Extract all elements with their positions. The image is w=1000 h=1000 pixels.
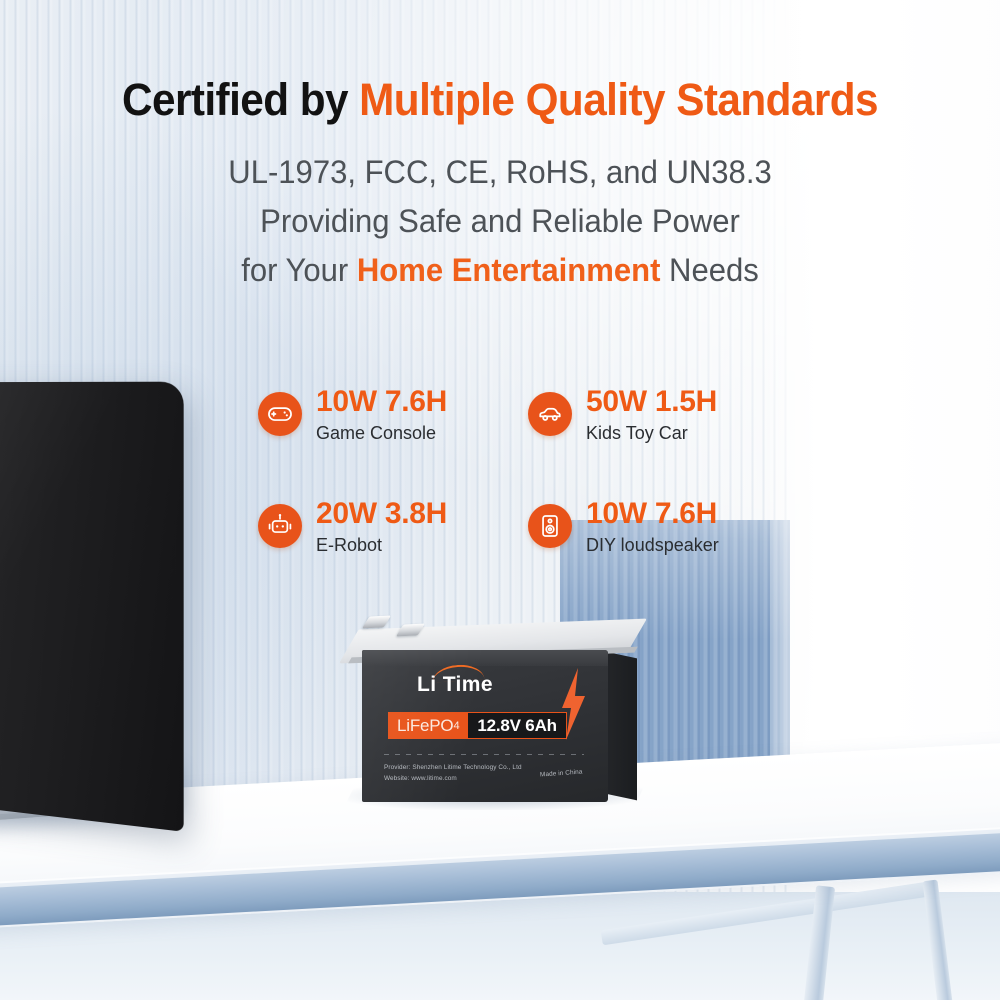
spec-badge: LiFePO4 12.8V 6Ah [388, 712, 567, 739]
chemistry-text: LiFePO [397, 716, 453, 736]
subtitle: UL-1973, FCC, CE, RoHS, and UN38.3 Provi… [15, 148, 985, 295]
feature-label: Game Console [316, 424, 447, 442]
chemistry-subscript: 4 [453, 720, 459, 732]
subtitle-line3-accent: Home Entertainment [357, 252, 661, 288]
feature-label: E-Robot [316, 536, 447, 554]
feature-spec: 10W 7.6H [316, 387, 447, 417]
feature-text: 10W 7.6H DIY loudspeaker [586, 499, 719, 554]
speaker-icon [528, 504, 572, 548]
wall-panel [770, 0, 1000, 870]
headline-accent: Multiple Quality Standards [359, 74, 878, 125]
subtitle-line-3: for Your Home Entertainment Needs [15, 246, 985, 295]
feature-spec: 10W 7.6H [586, 499, 719, 529]
subtitle-line-2: Providing Safe and Reliable Power [15, 197, 985, 246]
feature-label: DIY loudspeaker [586, 536, 719, 554]
feature-text: 20W 3.8H E-Robot [316, 499, 447, 554]
feature-text: 10W 7.6H Game Console [316, 387, 447, 442]
feature-item-robot: 20W 3.8H E-Robot [258, 470, 528, 582]
battery-terminal [362, 615, 391, 628]
manufacturer-info: Provider: Shenzhen Litime Technology Co.… [384, 762, 522, 784]
battery-side-face [607, 652, 637, 800]
toy-car-icon [528, 392, 572, 436]
feature-item-game-console: 10W 7.6H Game Console [258, 358, 528, 470]
feature-item-toy-car: 50W 1.5H Kids Toy Car [528, 358, 798, 470]
chemistry-badge: LiFePO4 [388, 712, 468, 739]
laptop-lid [0, 382, 184, 832]
subtitle-line3-after: Needs [660, 252, 758, 288]
label-divider [384, 754, 584, 755]
feature-list: 10W 7.6H Game Console 50W 1.5H Kids Toy … [258, 358, 798, 582]
brand-arc-icon [432, 663, 485, 683]
subtitle-line3-before: for Your [241, 252, 357, 288]
feature-label: Kids Toy Car [586, 424, 717, 442]
provider-text: Provider: Shenzhen Litime Technology Co.… [384, 762, 522, 773]
feature-item-loudspeaker: 10W 7.6H DIY loudspeaker [528, 470, 798, 582]
brand-logo: Li Time [417, 674, 493, 695]
subtitle-line-1: UL-1973, FCC, CE, RoHS, and UN38.3 [15, 148, 985, 197]
game-console-icon [258, 392, 302, 436]
feature-spec: 20W 3.8H [316, 499, 447, 529]
lightning-bolt-icon [558, 668, 588, 740]
product-banner: Certified by Multiple Quality Standards … [0, 0, 1000, 1000]
feature-text: 50W 1.5H Kids Toy Car [586, 387, 717, 442]
battery-product: Li Time LiFePO4 12.8V 6Ah Provider: Shen… [344, 612, 644, 812]
website-text: Website: www.litime.com [384, 773, 522, 784]
headline-plain: Certified by [122, 74, 359, 125]
battery-front-label: Li Time LiFePO4 12.8V 6Ah Provider: Shen… [362, 650, 608, 802]
rating-badge: 12.8V 6Ah [468, 712, 566, 739]
feature-spec: 50W 1.5H [586, 387, 717, 417]
origin-text: Made in China [540, 769, 583, 779]
page-title: Certified by Multiple Quality Standards [30, 74, 970, 126]
robot-icon [258, 504, 302, 548]
